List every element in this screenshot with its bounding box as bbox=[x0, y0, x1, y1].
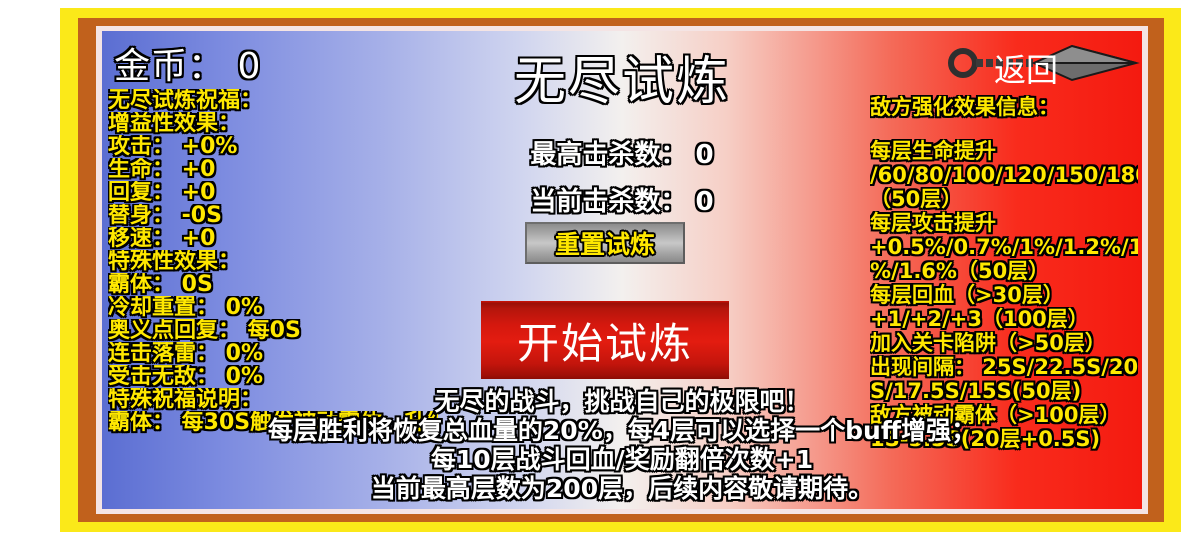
game-screen: 金币： 0 无尽试炼 返回 无尽试炼祝福： bbox=[0, 0, 1200, 540]
back-button-label: 返回 bbox=[994, 45, 1058, 91]
blessing-line: 奥义点回复： 每0S bbox=[108, 319, 438, 342]
blessing-line: 受击无敌： 0% bbox=[108, 365, 438, 388]
blessing-line: 连击落雷： 0% bbox=[108, 342, 438, 365]
enemy-info-line: （50层） bbox=[870, 187, 1138, 211]
back-button[interactable]: 返回 bbox=[946, 38, 1142, 94]
description-line: 无尽的战斗，挑战自己的极限吧！ bbox=[102, 387, 1142, 416]
start-trial-label: 开始试炼 bbox=[517, 310, 693, 371]
enemy-info-line: 每层攻击提升 bbox=[870, 211, 1138, 235]
blessing-line: 无尽试炼祝福： bbox=[108, 89, 438, 112]
reset-trial-label: 重置试炼 bbox=[555, 225, 655, 261]
enemy-info-line: 加入关卡陷阱（>50层） bbox=[870, 331, 1138, 355]
start-trial-button[interactable]: 开始试炼 bbox=[481, 301, 729, 379]
enemy-info-line: /60/80/100/120/150/180 bbox=[870, 163, 1138, 187]
endless-trial-panel: 金币： 0 无尽试炼 返回 无尽试炼祝福： bbox=[102, 31, 1142, 509]
enemy-info-line: %/1.6%（50层） bbox=[870, 259, 1138, 283]
blessing-line: 霸体： 0S bbox=[108, 273, 438, 296]
enemy-info-spacer bbox=[870, 119, 1138, 139]
reset-trial-button[interactable]: 重置试炼 bbox=[525, 222, 685, 264]
enemy-info-line: 出现间隔： 25S/22.5S/20 bbox=[870, 355, 1138, 379]
blessing-line: 增益性效果： bbox=[108, 112, 438, 135]
blessing-line: 移速： +0 bbox=[108, 227, 438, 250]
blessing-line: 冷却重置： 0% bbox=[108, 296, 438, 319]
description-text: 无尽的战斗，挑战自己的极限吧！ 每层胜利将恢复总血量的20%，每4层可以选择一个… bbox=[102, 387, 1142, 503]
description-line: 每层胜利将恢复总血量的20%，每4层可以选择一个buff增强； bbox=[102, 416, 1142, 445]
blessing-line: 特殊性效果： bbox=[108, 250, 438, 273]
enemy-info-heading: 敌方强化效果信息： bbox=[870, 95, 1138, 119]
description-line: 每10层战斗回血/奖励翻倍次数+1 bbox=[102, 445, 1142, 474]
enemy-info-line: 每层生命提升 bbox=[870, 139, 1138, 163]
enemy-info-line: +1/+2/+3（100层） bbox=[870, 307, 1138, 331]
enemy-info-line: +0.5%/0.7%/1%/1.2%/1.4 bbox=[870, 235, 1138, 259]
enemy-info-line: 每层回血（>30层） bbox=[870, 283, 1138, 307]
description-line: 当前最高层数为200层，后续内容敬请期待。 bbox=[102, 474, 1142, 503]
